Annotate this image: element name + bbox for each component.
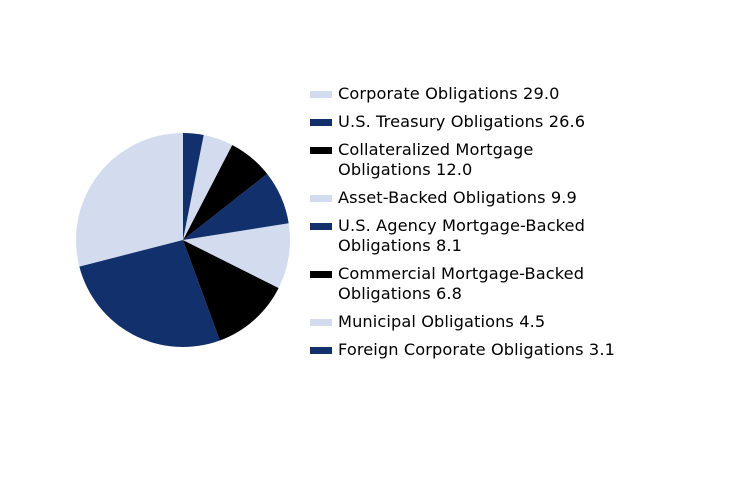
legend-item-label: Corporate Obligations 29.0 (338, 84, 710, 104)
legend-item[interactable]: Asset-Backed Obligations 9.9 (310, 188, 710, 208)
legend-item-label: Foreign Corporate Obligations 3.1 (338, 340, 710, 360)
legend-item[interactable]: Commercial Mortgage-Backed Obligations 6… (310, 264, 710, 304)
legend-swatch-cell (310, 340, 332, 354)
pie-slice-group (76, 133, 290, 347)
legend-item[interactable]: U.S. Treasury Obligations 26.6 (310, 112, 710, 132)
legend-item[interactable]: U.S. Agency Mortgage-Backed Obligations … (310, 216, 710, 256)
legend-swatch-cell (310, 112, 332, 126)
legend-swatch-cell (310, 264, 332, 278)
legend-swatch-cell (310, 312, 332, 326)
legend-color-swatch (310, 223, 332, 230)
legend-color-swatch (310, 195, 332, 202)
legend-swatch-cell (310, 216, 332, 230)
legend-color-swatch (310, 91, 332, 98)
pie-chart-figure: Corporate Obligations 29.0U.S. Treasury … (0, 0, 744, 492)
legend-color-swatch (310, 271, 332, 278)
legend-item-label: U.S. Agency Mortgage-Backed Obligations … (338, 216, 710, 256)
pie-svg (76, 133, 290, 347)
legend-color-swatch (310, 119, 332, 126)
legend-swatch-cell (310, 84, 332, 98)
chart-legend: Corporate Obligations 29.0U.S. Treasury … (310, 84, 710, 368)
legend-swatch-cell (310, 188, 332, 202)
legend-color-swatch (310, 319, 332, 326)
legend-color-swatch (310, 147, 332, 154)
legend-swatch-cell (310, 140, 332, 154)
legend-item[interactable]: Foreign Corporate Obligations 3.1 (310, 340, 710, 360)
legend-item[interactable]: Corporate Obligations 29.0 (310, 84, 710, 104)
legend-item-label: Municipal Obligations 4.5 (338, 312, 710, 332)
legend-item[interactable]: Municipal Obligations 4.5 (310, 312, 710, 332)
legend-color-swatch (310, 347, 332, 354)
legend-item-label: Collateralized Mortgage Obligations 12.0 (338, 140, 710, 180)
legend-item-label: Commercial Mortgage-Backed Obligations 6… (338, 264, 710, 304)
legend-item-label: U.S. Treasury Obligations 26.6 (338, 112, 710, 132)
legend-item[interactable]: Collateralized Mortgage Obligations 12.0 (310, 140, 710, 180)
legend-item-label: Asset-Backed Obligations 9.9 (338, 188, 710, 208)
pie-plot-area (76, 133, 290, 347)
